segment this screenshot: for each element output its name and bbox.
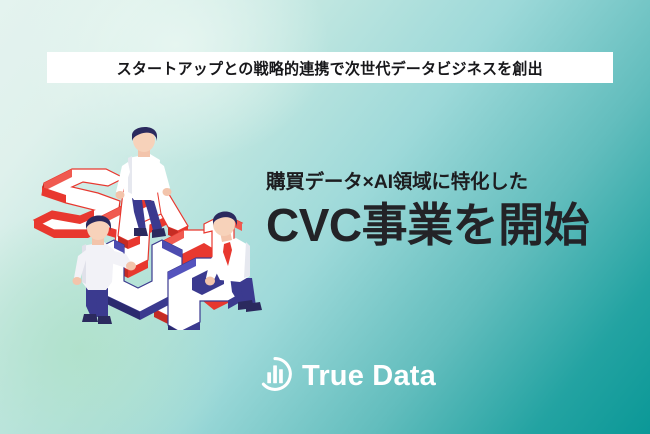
headline-block: 購買データ×AI領域に特化した CVC事業を開始	[266, 170, 626, 252]
true-data-logo: True Data	[257, 356, 436, 397]
startup-illustration	[28, 100, 268, 330]
true-data-logo-text: True Data	[302, 362, 436, 391]
headline-subtitle: 購買データ×AI領域に特化した	[266, 170, 626, 194]
banner-text: スタートアップとの戦略的連携で次世代データビジネスを創出	[117, 57, 543, 79]
headline-title: CVC事業を開始	[266, 200, 626, 252]
promo-poster: スタートアップとの戦略的連携で次世代データビジネスを創出	[0, 0, 650, 434]
true-data-logo-mark-icon	[257, 356, 293, 397]
headline-banner: スタートアップとの戦略的連携で次世代データビジネスを創出	[47, 52, 613, 83]
